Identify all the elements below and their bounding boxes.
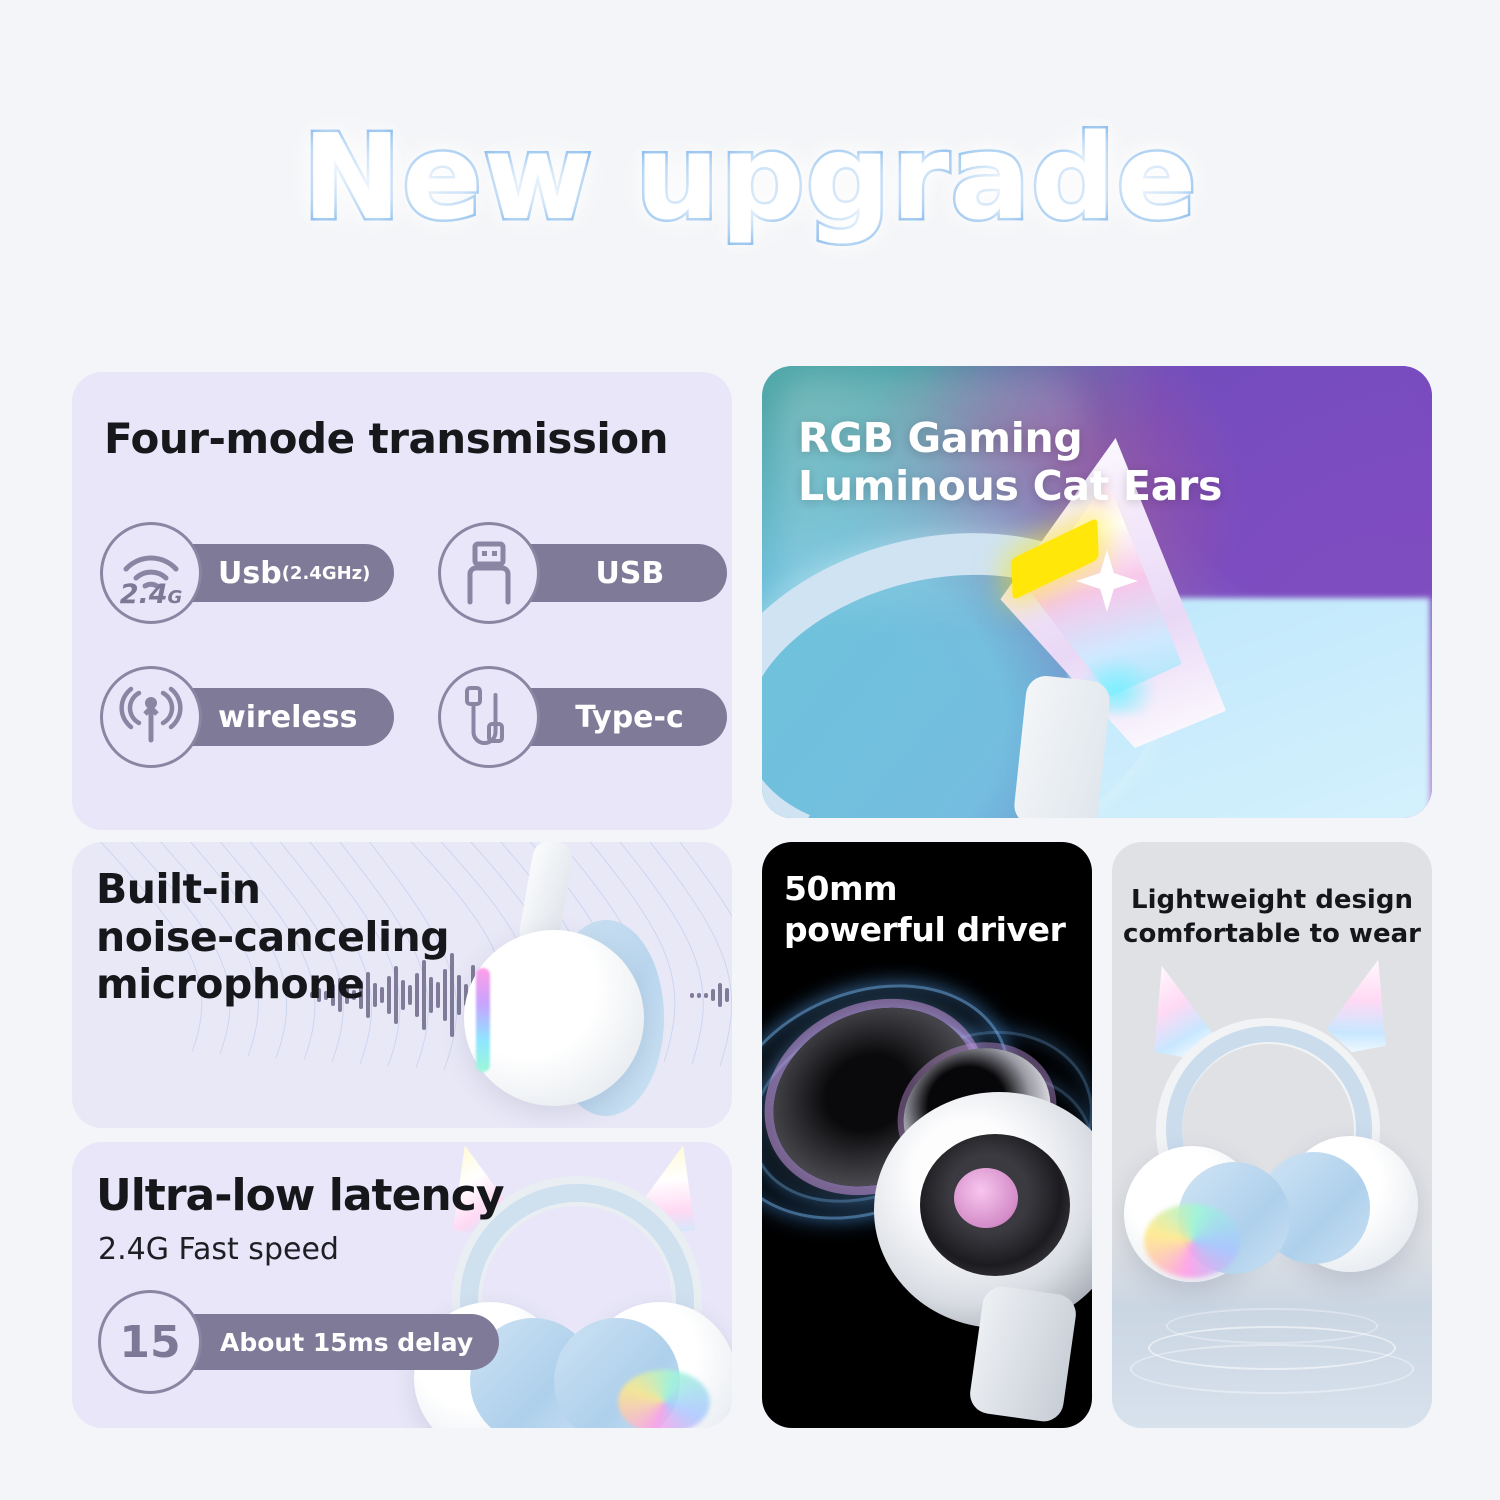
audio-waveform-right xyxy=(690,950,732,1040)
rgb-light-strip xyxy=(476,968,490,1072)
microphone-title-line-2: noise-canceling xyxy=(96,914,449,962)
rgb-gaming-title: RGB Gaming Luminous Cat Ears xyxy=(798,414,1222,511)
microphone-title-line-1: Built-in xyxy=(96,866,449,914)
infographic-page: New upgrade Four-mode transmission 2.4G xyxy=(0,0,1500,1500)
type-c-cable-icon xyxy=(438,666,540,768)
earcup-shell xyxy=(464,930,644,1106)
rgb-title-line-1: RGB Gaming xyxy=(798,414,1222,462)
lightweight-title-line-1: Lightweight design xyxy=(1112,884,1432,918)
panel-four-mode-transmission: Four-mode transmission 2.4G Usb(2.4GHz) xyxy=(72,372,732,830)
rgb-logo-glow xyxy=(1144,1204,1240,1278)
mode-item-usb[interactable]: USB xyxy=(438,522,727,624)
latency-badge[interactable]: 15 About 15ms delay xyxy=(98,1290,499,1394)
driver-title: 50mm powerful driver xyxy=(784,868,1065,951)
four-mode-row-1: 2.4G Usb(2.4GHz) xyxy=(100,522,712,624)
usb-plug-icon xyxy=(438,522,540,624)
driver-magnet xyxy=(954,1168,1018,1228)
four-mode-title: Four-mode transmission xyxy=(104,414,668,463)
latency-title: Ultra-low latency xyxy=(96,1170,504,1221)
driver-title-line-2: powerful driver xyxy=(784,909,1065,950)
mode-pill-label: Usb xyxy=(218,556,282,591)
microphone-title-line-3: microphone xyxy=(96,961,449,1009)
panel-lightweight-design: Lightweight design comfortable to wear xyxy=(1112,842,1432,1428)
earcup-photo xyxy=(464,876,670,1106)
wifi-24g-icon: 2.4G xyxy=(100,522,202,624)
ripple-3 xyxy=(1166,1308,1378,1344)
panel-rgb-gaming: RGB Gaming Luminous Cat Ears xyxy=(762,366,1432,818)
mode-item-usb-24ghz[interactable]: 2.4G Usb(2.4GHz) xyxy=(100,522,394,624)
mode-pill-label: USB xyxy=(595,556,664,591)
panel-ultra-low-latency: Ultra-low latency 2.4G Fast speed 15 Abo… xyxy=(72,1142,732,1428)
panel-50mm-driver: 50mm powerful driver xyxy=(762,842,1092,1428)
lightweight-title: Lightweight design comfortable to wear xyxy=(1112,884,1432,952)
driver-title-line-1: 50mm xyxy=(784,868,1065,909)
rgb-logo-glow xyxy=(618,1370,710,1428)
cat-ear-stem xyxy=(1012,674,1111,818)
mode-pill-sublabel: (2.4GHz) xyxy=(282,563,371,584)
mode-pill-label: wireless xyxy=(218,700,357,735)
panel-noise-canceling-microphone: Built-in noise-canceling microphone xyxy=(72,842,732,1128)
badge-24g-label: 2.4G xyxy=(120,579,183,610)
microphone-title: Built-in noise-canceling microphone xyxy=(96,866,449,1009)
mode-item-wireless[interactable]: wireless xyxy=(100,666,394,768)
ripple-2 xyxy=(1130,1344,1414,1394)
lightweight-title-line-2: comfortable to wear xyxy=(1112,918,1432,952)
mode-pill-label: Type-c xyxy=(575,700,684,735)
earcup-stem xyxy=(968,1284,1079,1424)
lightweight-headphones-photo xyxy=(1122,990,1422,1310)
latency-badge-value: 15 xyxy=(98,1290,202,1394)
mode-item-type-c[interactable]: Type-c xyxy=(438,666,727,768)
four-mode-grid: 2.4G Usb(2.4GHz) xyxy=(100,522,712,810)
latency-subtitle: 2.4G Fast speed xyxy=(98,1232,339,1267)
antenna-broadcast-icon xyxy=(100,666,202,768)
four-mode-row-2: wireless Type-c xyxy=(100,666,712,768)
rgb-title-line-2: Luminous Cat Ears xyxy=(798,462,1222,510)
page-title: New upgrade xyxy=(0,108,1500,246)
